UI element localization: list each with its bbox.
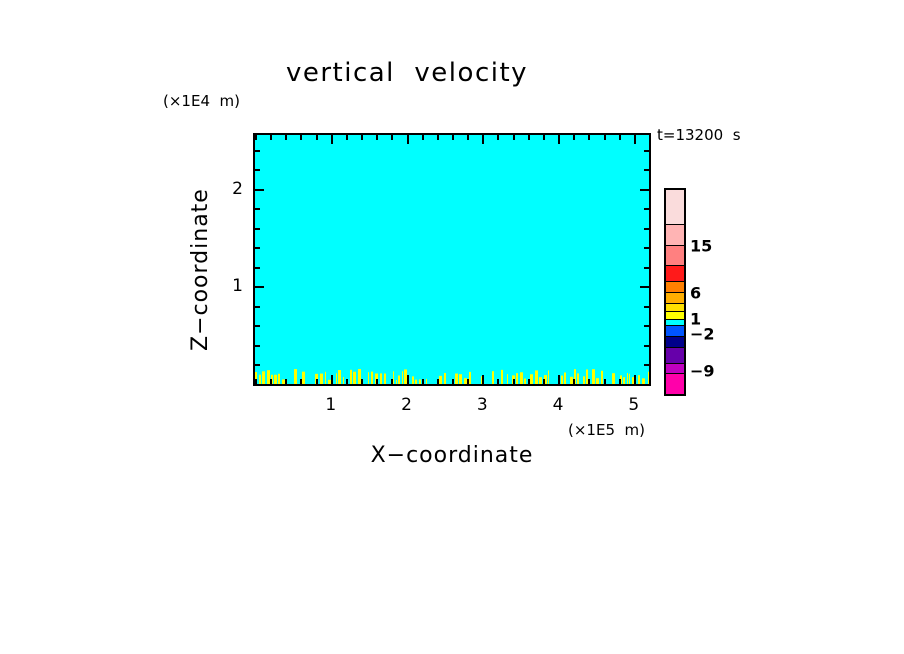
x-minor-tick-top bbox=[543, 135, 545, 140]
y-tick-label: 2 bbox=[232, 179, 243, 199]
x-major-tick bbox=[331, 375, 333, 384]
x-tick-label: 1 bbox=[325, 395, 336, 415]
colorbar-segment bbox=[666, 336, 684, 347]
x-minor-tick-top bbox=[285, 135, 287, 140]
colorbar-tick-label: −2 bbox=[690, 325, 715, 344]
plot-frame bbox=[253, 133, 651, 386]
colorbar-segment bbox=[666, 325, 684, 336]
x-minor-tick-top bbox=[270, 135, 272, 140]
colorbar-segment bbox=[666, 363, 684, 374]
y-major-tick-right bbox=[640, 189, 649, 191]
x-minor-tick bbox=[422, 379, 424, 384]
colorbar-tick-label: 15 bbox=[690, 236, 712, 255]
y-minor-tick-right bbox=[644, 228, 649, 230]
y-minor-tick-right bbox=[644, 306, 649, 308]
x-axis-unit-label: (×1E5 m) bbox=[568, 421, 645, 439]
x-major-tick bbox=[558, 375, 560, 384]
y-major-tick bbox=[255, 286, 264, 288]
y-tick-label: 1 bbox=[232, 276, 243, 296]
colorbar-segment bbox=[666, 281, 684, 292]
x-minor-tick-top bbox=[619, 135, 621, 140]
y-minor-tick-right bbox=[644, 325, 649, 327]
x-major-tick bbox=[407, 375, 409, 384]
x-minor-tick bbox=[391, 379, 393, 384]
colorbar-segment bbox=[666, 224, 684, 245]
y-minor-tick-right bbox=[644, 169, 649, 171]
x-minor-tick bbox=[588, 379, 590, 384]
plot-canvas: vertical velocity (×1E4 m) t=13200 s 123… bbox=[0, 0, 904, 654]
page-title: vertical velocity bbox=[0, 58, 859, 88]
y-minor-tick bbox=[255, 208, 260, 210]
x-major-tick-top bbox=[558, 135, 560, 144]
x-minor-tick-top bbox=[391, 135, 393, 140]
x-tick-label: 4 bbox=[553, 395, 564, 415]
x-minor-tick bbox=[452, 379, 454, 384]
x-minor-tick bbox=[376, 379, 378, 384]
x-minor-tick-top bbox=[467, 135, 469, 140]
x-major-tick-top bbox=[482, 135, 484, 144]
x-minor-tick bbox=[361, 379, 363, 384]
time-stamp-label: t=13200 s bbox=[657, 126, 741, 144]
y-axis-unit-label: (×1E4 m) bbox=[163, 92, 240, 110]
x-tick-label: 2 bbox=[401, 395, 412, 415]
y-minor-tick bbox=[255, 384, 260, 386]
y-minor-tick bbox=[255, 345, 260, 347]
y-minor-tick bbox=[255, 364, 260, 366]
x-minor-tick-top bbox=[649, 135, 651, 140]
colorbar-tick-label: 6 bbox=[690, 283, 701, 302]
colorbar-segment bbox=[666, 265, 684, 281]
y-minor-tick-right bbox=[644, 384, 649, 386]
x-minor-tick bbox=[270, 379, 272, 384]
x-minor-tick bbox=[285, 379, 287, 384]
colorbar-segment bbox=[666, 373, 684, 394]
y-minor-tick-right bbox=[644, 150, 649, 152]
x-minor-tick-top bbox=[497, 135, 499, 140]
x-major-tick-top bbox=[407, 135, 409, 144]
x-minor-tick bbox=[543, 379, 545, 384]
x-minor-tick bbox=[497, 379, 499, 384]
y-minor-tick-right bbox=[644, 364, 649, 366]
x-minor-tick-top bbox=[361, 135, 363, 140]
heatmap-field bbox=[255, 135, 649, 384]
x-tick-label: 5 bbox=[628, 395, 639, 415]
y-major-tick-right bbox=[640, 286, 649, 288]
x-minor-tick-top bbox=[452, 135, 454, 140]
x-minor-tick-top bbox=[316, 135, 318, 140]
x-minor-tick bbox=[467, 379, 469, 384]
y-minor-tick bbox=[255, 150, 260, 152]
colorbar-segment bbox=[666, 245, 684, 266]
x-minor-tick bbox=[346, 379, 348, 384]
x-major-tick-top bbox=[331, 135, 333, 144]
colorbar-segment bbox=[666, 292, 684, 303]
colorbar bbox=[664, 188, 686, 396]
x-minor-tick bbox=[604, 379, 606, 384]
y-minor-tick-right bbox=[644, 267, 649, 269]
colorbar-segment bbox=[666, 190, 684, 224]
y-minor-tick-right bbox=[644, 208, 649, 210]
y-minor-tick bbox=[255, 228, 260, 230]
x-tick-label: 3 bbox=[477, 395, 488, 415]
y-minor-tick bbox=[255, 325, 260, 327]
colorbar-tick-label: −9 bbox=[690, 362, 715, 381]
x-minor-tick bbox=[316, 379, 318, 384]
colorbar-segment bbox=[666, 311, 684, 319]
x-minor-tick-top bbox=[528, 135, 530, 140]
colorbar-segment bbox=[666, 347, 684, 363]
y-minor-tick-right bbox=[644, 345, 649, 347]
x-minor-tick-top bbox=[604, 135, 606, 140]
x-major-tick bbox=[482, 375, 484, 384]
x-minor-tick bbox=[619, 379, 621, 384]
x-minor-tick bbox=[437, 379, 439, 384]
x-axis-title: X−coordinate bbox=[253, 443, 651, 468]
y-minor-tick bbox=[255, 247, 260, 249]
x-minor-tick-top bbox=[376, 135, 378, 140]
x-minor-tick bbox=[573, 379, 575, 384]
x-minor-tick-top bbox=[422, 135, 424, 140]
y-minor-tick bbox=[255, 306, 260, 308]
y-axis-title: Z−coordinate bbox=[188, 160, 214, 380]
x-minor-tick-top bbox=[588, 135, 590, 140]
x-minor-tick bbox=[649, 379, 651, 384]
x-minor-tick-top bbox=[255, 135, 257, 140]
y-minor-tick bbox=[255, 169, 260, 171]
x-minor-tick-top bbox=[300, 135, 302, 140]
x-minor-tick bbox=[528, 379, 530, 384]
y-minor-tick-right bbox=[644, 247, 649, 249]
x-major-tick bbox=[634, 375, 636, 384]
x-minor-tick-top bbox=[437, 135, 439, 140]
x-minor-tick-top bbox=[346, 135, 348, 140]
colorbar-segment bbox=[666, 303, 684, 311]
y-major-tick bbox=[255, 189, 264, 191]
x-minor-tick bbox=[513, 379, 515, 384]
x-minor-tick bbox=[300, 379, 302, 384]
x-major-tick-top bbox=[634, 135, 636, 144]
x-minor-tick-top bbox=[513, 135, 515, 140]
y-minor-tick bbox=[255, 267, 260, 269]
x-minor-tick-top bbox=[573, 135, 575, 140]
